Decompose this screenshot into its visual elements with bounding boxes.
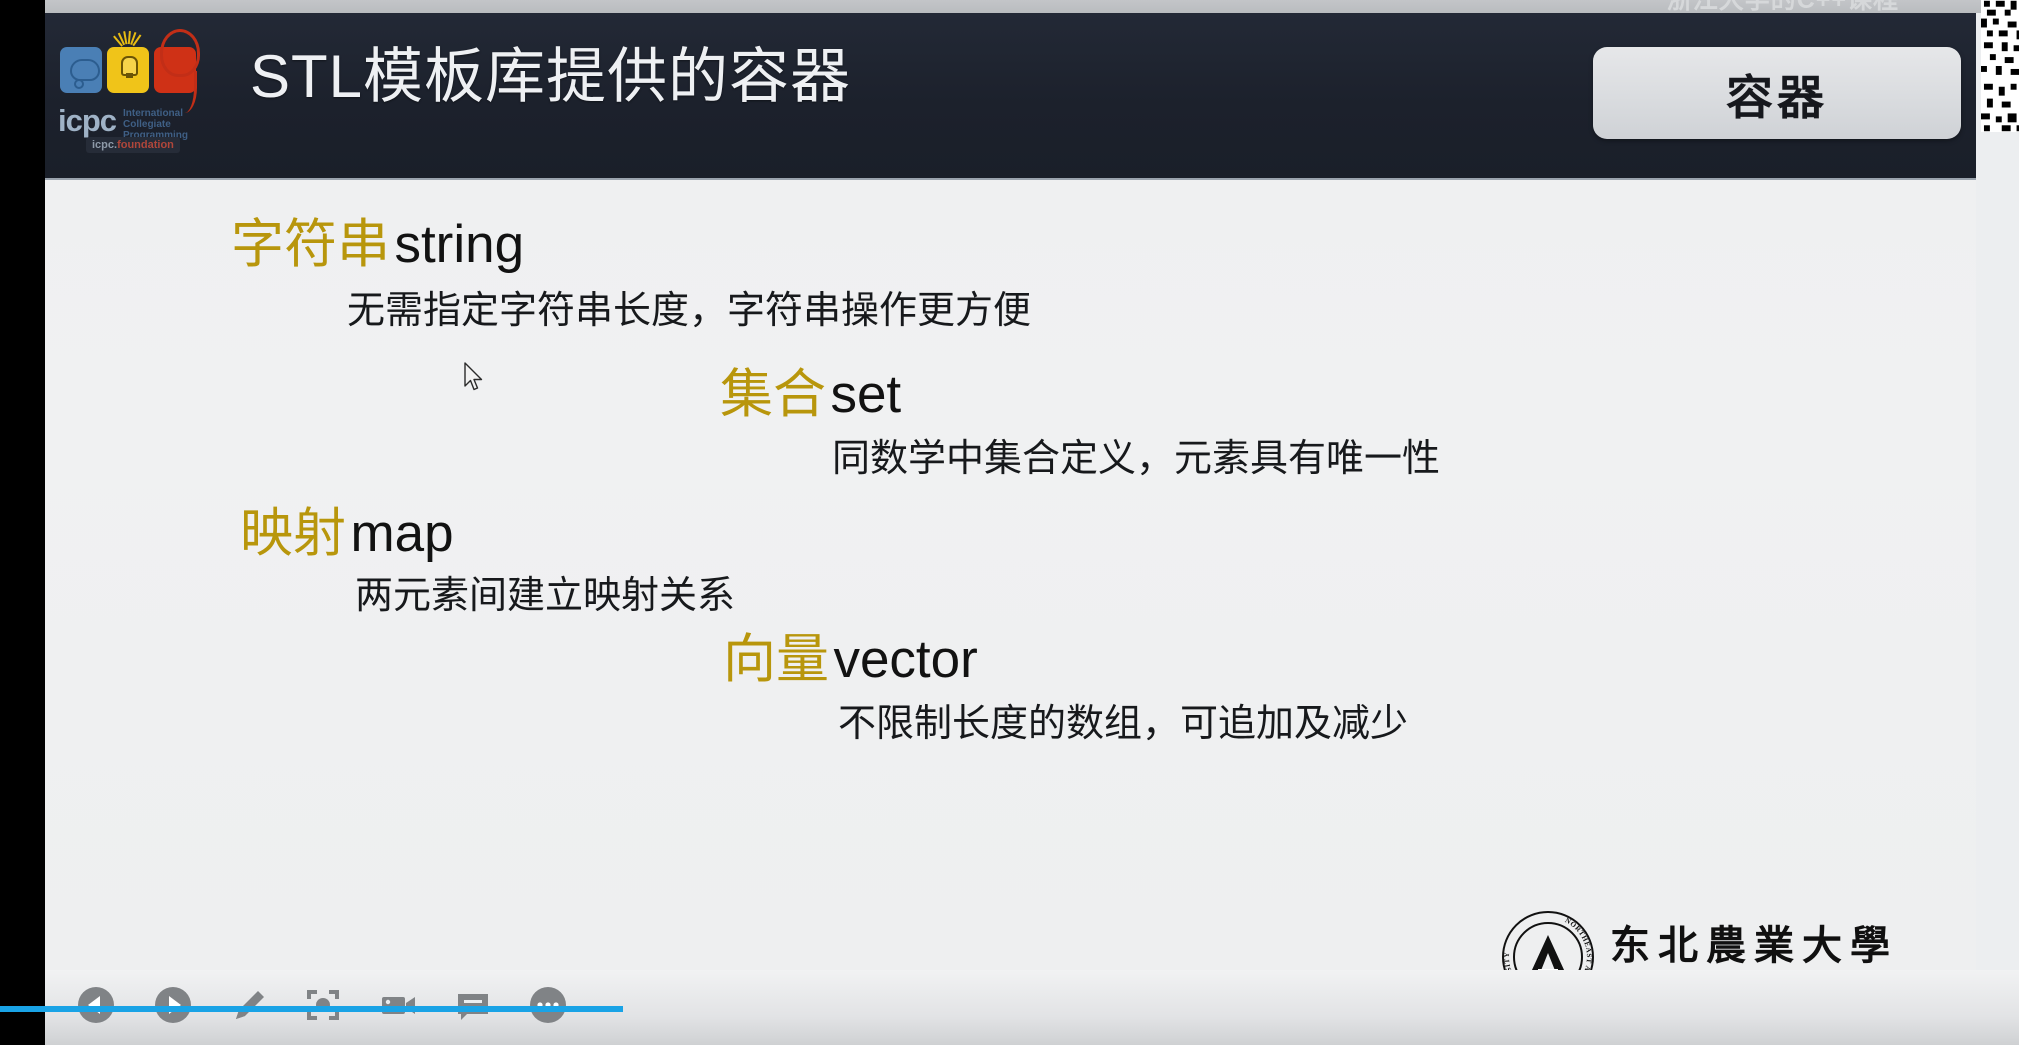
slide-stage: 浙江大学的C++课程 bbox=[45, 0, 2019, 1045]
top-strip-text: 浙江大学的C++课程 bbox=[1667, 0, 1899, 13]
icpc-foundation-tag: icpc.foundation bbox=[86, 137, 180, 153]
list-item: 映射 map 两元素间建立映射关系 bbox=[240, 504, 735, 620]
video-camera-icon bbox=[375, 982, 421, 1028]
entry-term: 向量 bbox=[723, 630, 829, 689]
next-icon bbox=[150, 982, 196, 1028]
entry-term: 字符串 bbox=[231, 215, 390, 274]
list-item: 集合 set 同数学中集合定义，元素具有唯一性 bbox=[720, 365, 1440, 483]
entry-description: 同数学中集合定义，元素具有唯一性 bbox=[832, 435, 1440, 483]
entry-term: 映射 bbox=[240, 504, 346, 563]
thought-cloud-icon bbox=[60, 47, 102, 93]
icpc-foundation-prefix: icpc. bbox=[92, 139, 117, 151]
comment-icon bbox=[450, 982, 496, 1028]
entry-description: 不限制长度的数组，可追加及减少 bbox=[838, 700, 1408, 748]
list-item: 向量 vector 不限制长度的数组，可追加及减少 bbox=[723, 630, 1408, 748]
pen-tool-button[interactable] bbox=[225, 982, 271, 1028]
entry-english: set bbox=[830, 365, 901, 424]
more-options-button[interactable] bbox=[525, 982, 571, 1028]
section-badge[interactable]: 容器 bbox=[1593, 47, 1961, 139]
icpc-foundation-suffix: foundation bbox=[117, 139, 174, 151]
record-video-button[interactable] bbox=[375, 982, 421, 1028]
screenshot-icon bbox=[300, 982, 346, 1028]
icpc-wordmark: icpc bbox=[58, 103, 116, 139]
page-title: STL模板库提供的容器 bbox=[250, 43, 851, 111]
entry-description: 两元素间建立映射关系 bbox=[355, 572, 735, 620]
balloon-outline-icon bbox=[160, 29, 200, 77]
presentation-screen: 浙江大学的C++课程 bbox=[0, 0, 2019, 1045]
entry-description: 无需指定字符串长度，字符串操作更方便 bbox=[347, 287, 1031, 335]
qr-code bbox=[1981, 0, 2019, 132]
entry-english: vector bbox=[833, 630, 977, 689]
list-item: 字符串 string 无需指定字符串长度，字符串操作更方便 bbox=[231, 215, 1031, 335]
mouse-cursor bbox=[463, 362, 485, 394]
progress-line[interactable] bbox=[0, 1006, 623, 1012]
icpc-logo-squares bbox=[58, 47, 203, 103]
next-slide-button[interactable] bbox=[150, 982, 196, 1028]
icpc-logo: icpc International Collegiate Programmin… bbox=[58, 25, 203, 155]
notes-button[interactable] bbox=[450, 982, 496, 1028]
section-badge-label: 容器 bbox=[1726, 59, 1828, 128]
slide-content: 字符串 string 无需指定字符串长度，字符串操作更方便 集合 set 同数学… bbox=[45, 180, 1976, 970]
previous-icon bbox=[73, 982, 119, 1028]
university-name-cn: 东北農業大學 bbox=[1610, 923, 1898, 969]
screenshot-button[interactable] bbox=[300, 982, 346, 1028]
slide-header: icpc International Collegiate Programmin… bbox=[45, 13, 1976, 180]
balloon-string-icon bbox=[176, 71, 197, 113]
top-strip: 浙江大学的C++课程 bbox=[45, 0, 2019, 13]
previous-slide-button[interactable] bbox=[73, 982, 119, 1028]
lightbulb-rays-icon bbox=[108, 31, 148, 65]
pen-icon bbox=[225, 982, 271, 1028]
entry-english: map bbox=[350, 504, 453, 563]
entry-term: 集合 bbox=[720, 365, 826, 424]
entry-english: string bbox=[394, 215, 524, 274]
ellipsis-icon bbox=[525, 982, 571, 1028]
